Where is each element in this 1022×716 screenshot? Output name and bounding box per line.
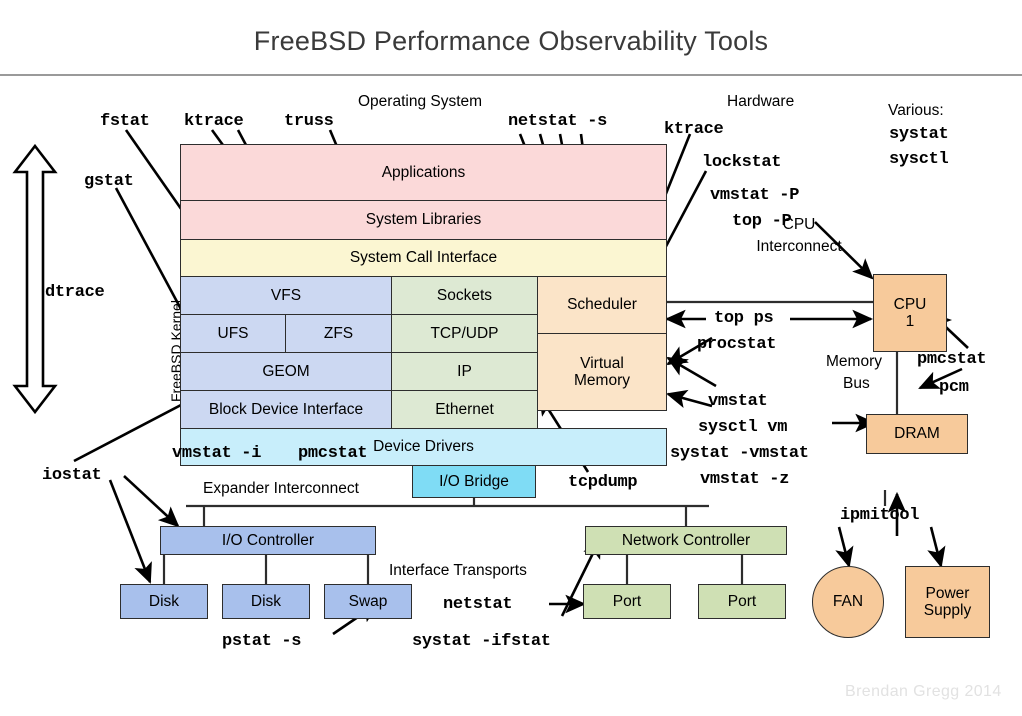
tool-lockstat[interactable]: lockstat: [702, 153, 781, 172]
label-operating-system: Operating System: [358, 93, 482, 111]
label-hardware: Hardware: [727, 93, 794, 111]
box-system-call-interface[interactable]: System Call Interface: [180, 239, 667, 277]
box-power-supply[interactable]: Power Supply: [905, 566, 990, 638]
box-vfs[interactable]: VFS: [180, 276, 392, 315]
tool-systat-vmstat[interactable]: systat -vmstat: [670, 444, 809, 463]
tool-ipmitool[interactable]: ipmitool: [840, 506, 919, 525]
tool-sysctl-vm[interactable]: sysctl vm: [698, 418, 787, 437]
box-virtual-memory[interactable]: Virtual Memory: [537, 333, 667, 411]
tool-netstat-s[interactable]: netstat -s: [508, 112, 607, 131]
tool-top-P[interactable]: top -P: [732, 212, 791, 231]
tool-pcm[interactable]: pcm: [939, 378, 969, 397]
diagram-canvas: Operating System Hardware Various: FreeB…: [0, 76, 1022, 716]
credit-text: Brendan Gregg 2014: [845, 683, 1002, 701]
box-cpu[interactable]: CPU 1: [873, 274, 947, 352]
box-disk-2[interactable]: Disk: [222, 584, 310, 619]
tool-systat[interactable]: systat: [889, 125, 948, 144]
box-swap[interactable]: Swap: [324, 584, 412, 619]
box-scheduler[interactable]: Scheduler: [537, 276, 667, 334]
page-title: FreeBSD Performance Observability Tools: [0, 26, 1022, 57]
label-expander-interconnect: Expander Interconnect: [203, 480, 359, 498]
box-block-device-interface[interactable]: Block Device Interface: [180, 390, 392, 429]
tool-ktrace-right[interactable]: ktrace: [664, 120, 723, 139]
box-port-1[interactable]: Port: [583, 584, 671, 619]
box-ufs[interactable]: UFS: [180, 314, 286, 353]
tool-pmcstat-right[interactable]: pmcstat: [917, 350, 986, 369]
tool-vmstat-P[interactable]: vmstat -P: [710, 186, 799, 205]
box-tcp-udp[interactable]: TCP/UDP: [391, 314, 538, 353]
label-cpu-interconnect-2: Interconnect: [734, 238, 864, 256]
tool-vmstat-z[interactable]: vmstat -z: [700, 470, 789, 489]
tool-top-ps[interactable]: top ps: [714, 309, 773, 328]
tool-pmcstat-bottom[interactable]: pmcstat: [298, 444, 367, 463]
diagram-page: FreeBSD Performance Observability Tools: [0, 0, 1022, 716]
tool-vmstat-i[interactable]: vmstat -i: [172, 444, 261, 463]
box-sockets[interactable]: Sockets: [391, 276, 538, 315]
box-port-2[interactable]: Port: [698, 584, 786, 619]
tool-fstat[interactable]: fstat: [100, 112, 150, 131]
tool-truss[interactable]: truss: [284, 112, 334, 131]
tool-ktrace-left[interactable]: ktrace: [184, 112, 243, 131]
box-applications[interactable]: Applications: [180, 144, 667, 201]
box-system-libraries[interactable]: System Libraries: [180, 200, 667, 240]
label-various: Various:: [888, 102, 944, 120]
box-ip[interactable]: IP: [391, 352, 538, 391]
label-interface-transports: Interface Transports: [389, 562, 527, 580]
box-io-bridge[interactable]: I/O Bridge: [412, 465, 536, 498]
box-dram[interactable]: DRAM: [866, 414, 968, 454]
tool-netstat[interactable]: netstat: [443, 595, 512, 614]
tool-systat-ifstat[interactable]: systat -ifstat: [412, 632, 551, 651]
box-io-controller[interactable]: I/O Controller: [160, 526, 376, 555]
tool-gstat[interactable]: gstat: [84, 172, 134, 191]
tool-procstat[interactable]: procstat: [697, 335, 776, 354]
tool-iostat[interactable]: iostat: [42, 466, 101, 485]
dtrace-double-arrow: [15, 146, 55, 412]
tool-tcpdump[interactable]: tcpdump: [568, 473, 637, 492]
title-bar: FreeBSD Performance Observability Tools: [0, 0, 1022, 76]
tool-vmstat[interactable]: vmstat: [708, 392, 767, 411]
box-geom[interactable]: GEOM: [180, 352, 392, 391]
label-memory-bus-2: Bus: [843, 375, 870, 393]
tool-dtrace[interactable]: dtrace: [45, 283, 104, 302]
box-disk-1[interactable]: Disk: [120, 584, 208, 619]
box-fan[interactable]: FAN: [812, 566, 884, 638]
tool-sysctl[interactable]: sysctl: [889, 150, 948, 169]
label-memory-bus-1: Memory: [826, 353, 882, 371]
tool-pstat-s[interactable]: pstat -s: [222, 632, 301, 651]
box-zfs[interactable]: ZFS: [285, 314, 392, 353]
box-network-controller[interactable]: Network Controller: [585, 526, 787, 555]
box-ethernet[interactable]: Ethernet: [391, 390, 538, 429]
